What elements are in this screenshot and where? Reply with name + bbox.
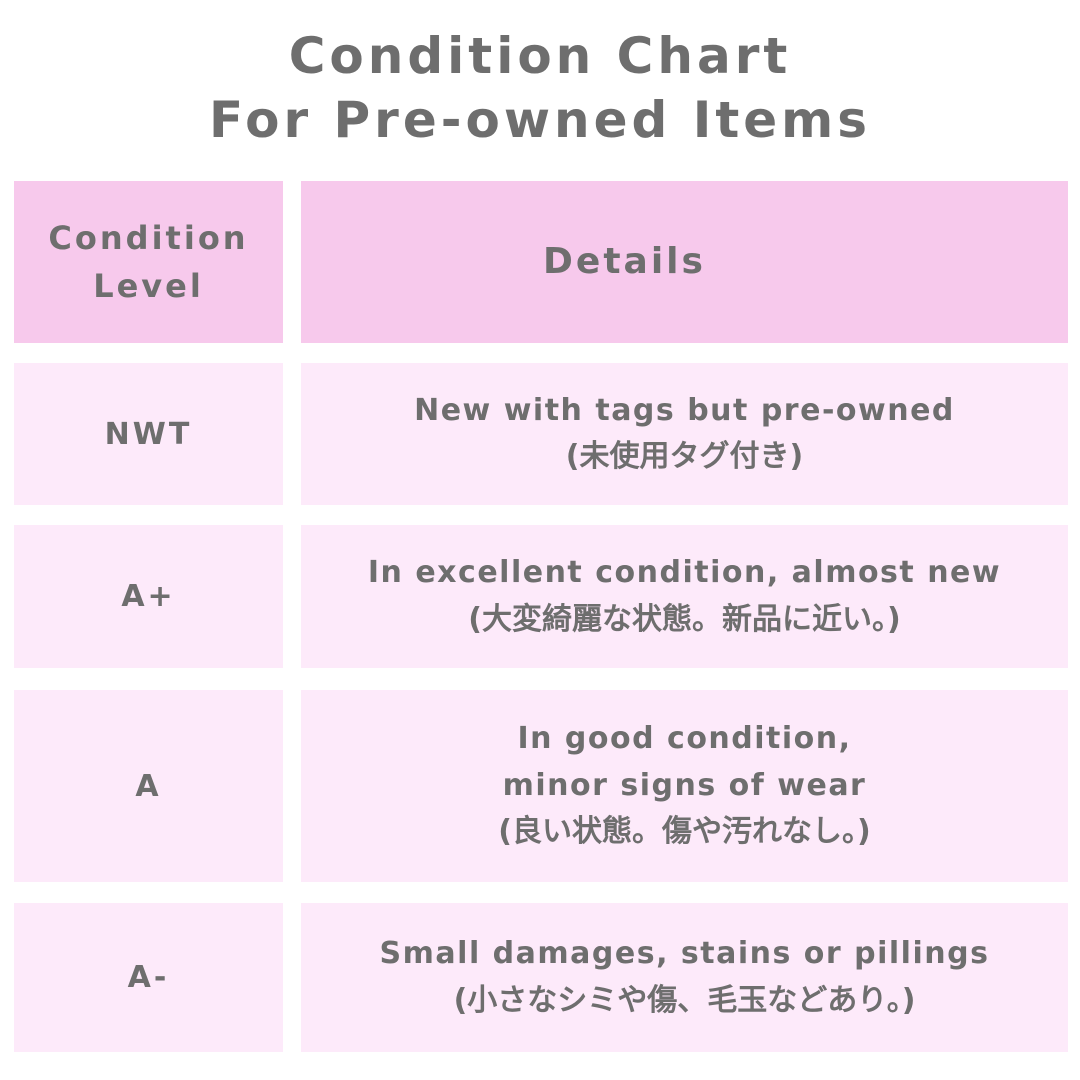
details-text: New with tags but pre-owned (未使用タグ付き) [414, 388, 955, 481]
details-cell: In excellent condition, almost new (大変綺麗… [301, 525, 1068, 668]
header-label-condition-level: Condition Level [48, 214, 248, 310]
header-label-line-1: Condition [48, 214, 248, 262]
details-cell: Small damages, stains or pillings (小さなシミ… [301, 903, 1068, 1052]
details-text: In good condition, minor signs of wear (… [498, 716, 870, 856]
level-cell: NWT [14, 363, 283, 505]
header-cell-details: Details [301, 181, 1068, 343]
details-line-en: In excellent condition, almost new [368, 550, 1001, 597]
header-label-line-2: Level [48, 262, 248, 310]
details-line-jp: (未使用タグ付き) [414, 434, 955, 481]
details-text: In excellent condition, almost new (大変綺麗… [368, 550, 1001, 643]
details-line-en-2: minor signs of wear [498, 763, 870, 810]
level-cell: A [14, 690, 283, 882]
details-text: Small damages, stains or pillings (小さなシミ… [380, 931, 990, 1024]
details-line-en-1: In good condition, [498, 716, 870, 763]
details-cell: New with tags but pre-owned (未使用タグ付き) [301, 363, 1068, 505]
details-line-jp: (大変綺麗な状態。新品に近い。) [368, 597, 1001, 644]
level-label: A+ [121, 579, 175, 614]
details-line-en: New with tags but pre-owned [414, 388, 955, 435]
level-cell: A- [14, 903, 283, 1052]
details-cell: In good condition, minor signs of wear (… [301, 690, 1068, 882]
level-label: A- [128, 960, 170, 995]
level-label: NWT [105, 417, 193, 452]
header-cell-condition-level: Condition Level [14, 181, 283, 343]
details-line-jp: (小さなシミや傷、毛玉などあり。) [380, 978, 990, 1025]
condition-table: Condition Level Details NWT New with tag… [0, 0, 1080, 1080]
level-cell: A+ [14, 525, 283, 668]
condition-chart-page: Condition Chart For Pre-owned Items Cond… [0, 0, 1080, 1080]
details-line-jp: (良い状態。傷や汚れなし。) [498, 809, 870, 856]
level-label: A [135, 769, 161, 804]
header-label-details: Details [543, 235, 706, 289]
details-line-en: Small damages, stains or pillings [380, 931, 990, 978]
